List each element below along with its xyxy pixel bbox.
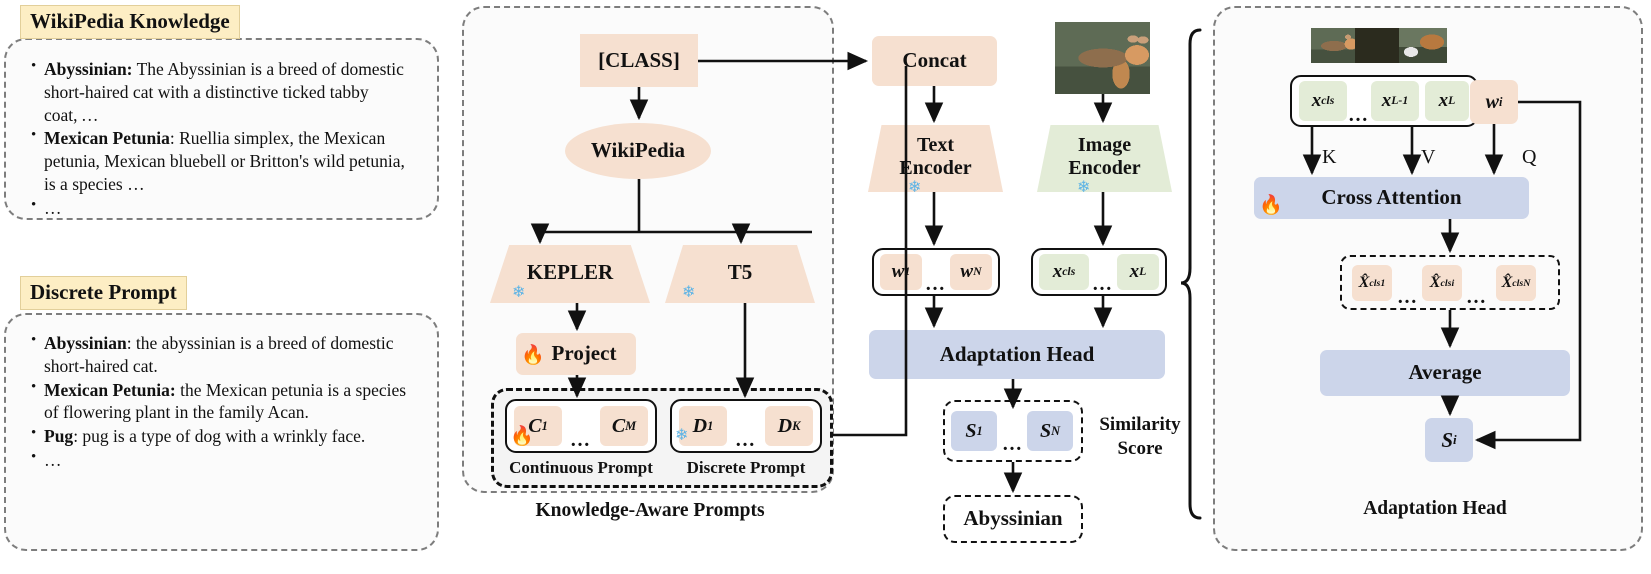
concat-block[interactable]: Concat (872, 36, 997, 86)
cross-attention-block[interactable]: Cross Attention (1254, 177, 1529, 219)
list-item: Mexican Petunia: Ruellia simplex, the Me… (30, 127, 420, 195)
ellipsis: … (1395, 283, 1421, 305)
ellipsis: … (727, 404, 765, 448)
patch-token-row[interactable]: xcls … xL-1 xL (1290, 75, 1478, 127)
list-item-term: Abyssinian (44, 333, 127, 353)
prediction-block: Abyssinian (943, 495, 1083, 543)
list-item-text: … (44, 450, 62, 470)
ellipsis: … (1347, 79, 1371, 123)
ellipsis: … (1089, 252, 1117, 292)
text-feature-tokens[interactable]: w1 … wN (872, 248, 1000, 296)
snowflake-icon: ❄ (675, 428, 688, 444)
image-feature-tokens[interactable]: xcls … xL (1031, 248, 1167, 296)
token-xl: xL (1117, 254, 1159, 290)
token-si: Si (1425, 418, 1473, 462)
snowflake-icon: ❄ (1077, 180, 1090, 196)
list-item-term: Mexican Petunia: (44, 380, 176, 400)
patch-thumbnail-1 (1311, 28, 1359, 63)
token-xhat-1: X̂cls1 (1352, 265, 1392, 301)
patch-thumbnail-3 (1399, 28, 1447, 63)
similarity-score-line1: Similarity (1085, 413, 1195, 437)
list-item-term: Mexican Petunia (44, 128, 170, 148)
class-token-block[interactable]: [CLASS] (580, 34, 698, 87)
image-encoder-line1: Image (1078, 134, 1131, 156)
token-sn: SN (1027, 411, 1073, 451)
value-label: V (1421, 146, 1435, 169)
ellipsis: … (922, 252, 950, 292)
flame-icon: 🔥 (510, 427, 534, 446)
wikipedia-knowledge-list: Abyssinian: The Abyssinian is a breed of… (20, 48, 432, 226)
query-label: Q (1522, 146, 1536, 169)
image-encoder-line2: Encoder (1068, 157, 1140, 179)
snowflake-icon: ❄ (512, 285, 525, 301)
adaptation-head-caption: Adaptation Head (1290, 498, 1580, 520)
token-xcls: xcls (1299, 81, 1347, 121)
token-xhat-i: X̂clsi (1422, 265, 1462, 301)
key-label: K (1322, 146, 1336, 169)
list-item: Abyssinian: the abyssinian is a breed of… (30, 332, 420, 378)
similarity-score-label: Similarity Score (1085, 413, 1195, 461)
adaptation-head-block[interactable]: Adaptation Head (869, 330, 1165, 379)
snowflake-icon: ❄ (682, 285, 695, 301)
list-item-term: Pug (44, 426, 73, 446)
list-item-text: … (44, 198, 62, 218)
discrete-prompt-tag: Discrete Prompt (20, 276, 187, 310)
token-w1: w1 (880, 254, 922, 290)
token-xhat-n: X̂clsN (1496, 265, 1536, 301)
ellipsis: … (1464, 283, 1490, 305)
flame-icon: 🔥 (521, 346, 545, 365)
wikipedia-knowledge-tag: WikiPedia Knowledge (20, 5, 240, 39)
token-xlm1: xL-1 (1371, 81, 1419, 121)
list-item: Mexican Petunia: the Mexican petunia is … (30, 379, 420, 425)
token-cm: CM (600, 406, 648, 446)
ellipsis: … (1000, 430, 1026, 452)
token-s1: S1 (951, 411, 997, 451)
text-encoder-block[interactable]: Text Encoder (868, 125, 1003, 192)
list-item-term: Abyssinian: (44, 59, 133, 79)
token-xcls: xcls (1039, 254, 1089, 290)
knowledge-aware-prompts-caption: Knowledge-Aware Prompts (500, 500, 800, 522)
token-dk: DK (765, 406, 813, 446)
similarity-score-line2: Score (1085, 437, 1195, 461)
discrete-prompt-label: Discrete Prompt (658, 458, 834, 478)
image-encoder-block[interactable]: Image Encoder (1037, 125, 1172, 192)
discrete-prompt-tokens[interactable]: D1 … DK (670, 399, 822, 453)
patch-thumbnail-2 (1355, 28, 1403, 63)
token-wi: wi (1470, 80, 1518, 124)
list-item: … (30, 197, 420, 220)
list-item-text: : pug is a type of dog with a wrinkly fa… (73, 426, 365, 446)
token-xl: xL (1425, 81, 1469, 121)
ellipsis: … (562, 404, 600, 448)
wikipedia-source-block[interactable]: WikiPedia (565, 123, 711, 179)
token-wn: wN (950, 254, 992, 290)
flame-icon: 🔥 (1259, 196, 1283, 215)
text-encoder-line1: Text (917, 134, 954, 156)
list-item: Pug: pug is a type of dog with a wrinkly… (30, 425, 420, 448)
list-item: Abyssinian: The Abyssinian is a breed of… (30, 58, 420, 126)
average-block[interactable]: Average (1320, 350, 1570, 396)
discrete-prompt-list: Abyssinian: the abyssinian is a breed of… (20, 322, 432, 479)
list-item: … (30, 449, 420, 472)
continuous-prompt-label: Continuous Prompt (490, 458, 672, 478)
text-encoder-line2: Encoder (899, 157, 971, 179)
input-cat-image (1055, 22, 1150, 94)
snowflake-icon: ❄ (908, 180, 921, 196)
